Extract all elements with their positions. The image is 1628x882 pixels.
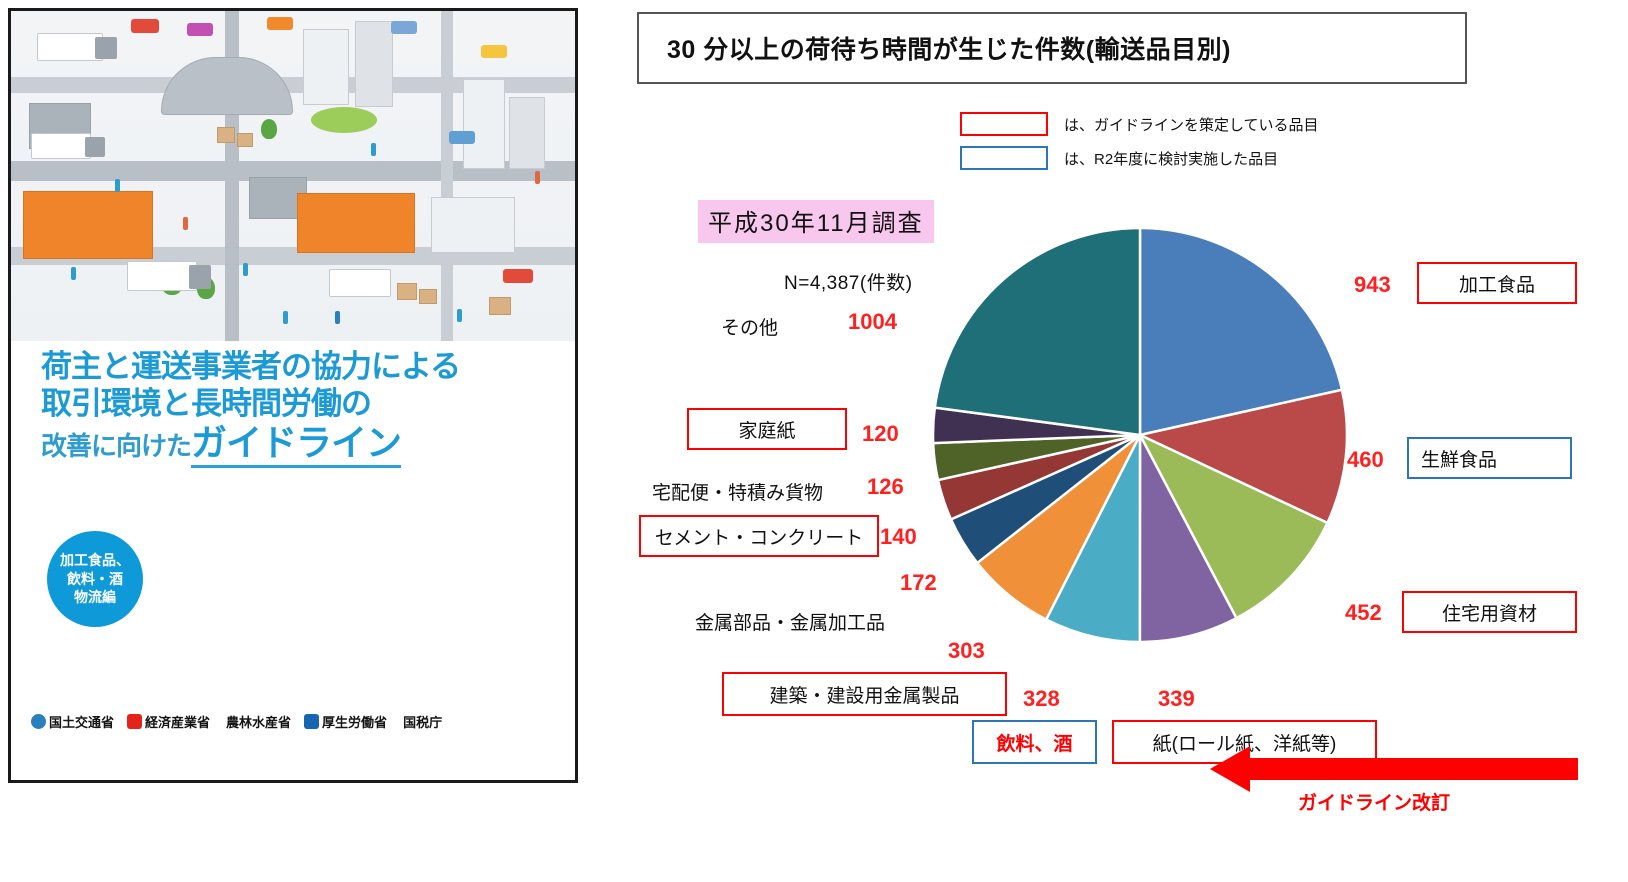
chart-panel: 30 分以上の荷待ち時間が生じた件数(輸送品目別) は、ガイドラインを策定してい… (612, 0, 1628, 882)
chart-title: 30 分以上の荷待ち時間が生じた件数(輸送品目別) (667, 30, 1231, 66)
label-sonota: その他 (721, 313, 778, 340)
value-inryou-sake: 328 (1023, 686, 1060, 712)
revision-arrow-label: ガイドライン改訂 (1298, 788, 1450, 815)
logo-nta: 国税庁 (400, 712, 442, 731)
value-cement: 140 (880, 524, 917, 550)
value-kami: 339 (1158, 686, 1195, 712)
slide-canvas: 荷主と運送事業者の協力による 取引環境と長時間労働の 改善に向けたガイドライン … (0, 0, 1628, 882)
logo-mhlw: 厚生労働省 (304, 712, 387, 731)
value-kinzoku-buhin: 172 (900, 570, 937, 596)
label-kateishi: 家庭紙 (687, 408, 847, 450)
logo-label-meti: 経済産業省 (145, 712, 210, 731)
logo-label-nta: 国税庁 (403, 712, 442, 731)
mhlw-emblem-icon (304, 714, 319, 729)
poster-headline: 荷主と運送事業者の協力による 取引環境と長時間労働の 改善に向けたガイドライン (41, 349, 561, 465)
logo-maff: 農林水産省 (223, 712, 291, 731)
logo-label-maff: 農林水産省 (226, 712, 291, 731)
poster-badge: 加工食品、 飲料・酒 物流編 (47, 531, 143, 627)
label-inryou-sake: 飲料、酒 (972, 720, 1097, 764)
pie-svg (930, 225, 1350, 645)
revision-arrow-shaft-icon (1248, 758, 1578, 780)
legend-row-blue: は、R2年度に検討実施した品目 (960, 146, 1430, 170)
value-kateishi: 120 (862, 421, 899, 447)
guideline-poster: 荷主と運送事業者の協力による 取引環境と長時間労働の 改善に向けたガイドライン … (8, 8, 578, 783)
value-juutaku-shizai: 452 (1345, 600, 1382, 626)
poster-headline-line1: 荷主と運送事業者の協力による (41, 349, 460, 384)
survey-period-badge: 平成30年11月調査 (698, 200, 934, 243)
logo-meti: 経済産業省 (127, 712, 210, 731)
logo-label-mlit: 国土交通省 (49, 712, 114, 731)
chart-title-box: 30 分以上の荷待ち時間が生じた件数(輸送品目別) (637, 12, 1467, 84)
meti-emblem-icon (127, 714, 142, 729)
legend-row-red: は、ガイドラインを策定している品目 (960, 112, 1430, 136)
poster-headline-line3-pre: 改善に向けた (41, 431, 191, 461)
poster-badge-line2: 飲料・酒 (67, 570, 123, 589)
pie-chart (930, 225, 1350, 645)
sample-size-label: N=4,387(件数) (784, 268, 913, 295)
value-kenchiku-kinzoku: 303 (948, 638, 985, 664)
label-kinzoku-buhin: 金属部品・金属加工品 (695, 608, 885, 635)
legend-swatch-blue-icon (960, 146, 1048, 170)
poster-headline-line2: 取引環境と長時間労働の (41, 386, 371, 421)
poster-badge-line3: 物流編 (74, 588, 116, 607)
label-kakou-shokuhin: 加工食品 (1417, 262, 1577, 304)
legend-label-red: は、ガイドラインを策定している品目 (1064, 114, 1319, 135)
revision-arrow-head-icon (1210, 746, 1250, 792)
label-takuhai: 宅配便・特積み貨物 (652, 478, 823, 505)
value-takuhai: 126 (867, 474, 904, 500)
label-seisen-shokuhin: 生鮮食品 (1407, 437, 1572, 479)
legend-swatch-red-icon (960, 112, 1048, 136)
poster-badge-line1: 加工食品、 (60, 551, 130, 570)
value-seisen-shokuhin: 460 (1347, 447, 1384, 473)
poster-headline-guideline: ガイドライン (191, 422, 401, 468)
value-kakou-shokuhin: 943 (1354, 272, 1391, 298)
logo-label-mhlw: 厚生労働省 (322, 712, 387, 731)
pie-slice-10 (935, 228, 1140, 435)
chart-legend: は、ガイドラインを策定している品目 は、R2年度に検討実施した品目 (960, 112, 1430, 180)
value-sonota: 1004 (848, 309, 897, 335)
label-juutaku-shizai: 住宅用資材 (1402, 591, 1577, 633)
poster-ministry-logos: 国土交通省 経済産業省 農林水産省 厚生労働省 国税庁 (31, 701, 566, 741)
label-kenchiku-kinzoku: 建築・建設用金属製品 (722, 672, 1007, 716)
logo-mlit: 国土交通省 (31, 712, 114, 731)
mlit-emblem-icon (31, 714, 46, 729)
legend-label-blue: は、R2年度に検討実施した品目 (1064, 148, 1278, 169)
poster-illustration (11, 11, 575, 341)
label-cement: セメント・コンクリート (639, 515, 879, 557)
